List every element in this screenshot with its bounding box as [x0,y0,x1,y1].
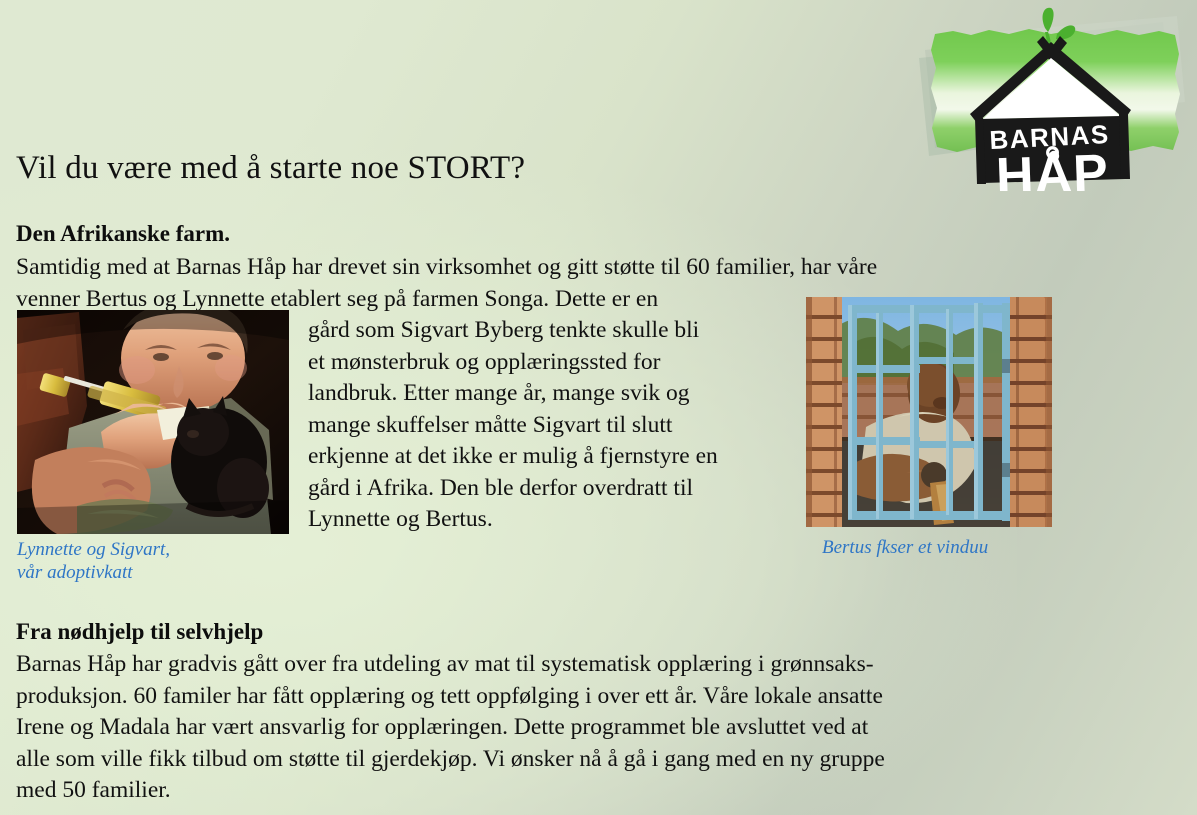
caption-line: Lynnette og Sigvart, [17,538,317,561]
photo-lynnette-and-sigvart [17,310,289,534]
selfhelp-line: Irene og Madala har vært ansvarlig for o… [16,712,1066,744]
farm-line: et mønsterbruk og opplæringssted for [308,347,788,379]
farm-line: erkjenne at det ikke er mulig å fjernsty… [308,441,788,473]
section-heading-selfhelp: Fra nødhjelp til selvhjelp [16,618,263,646]
logo-text-hap: HÅP [995,144,1110,191]
photo-bertus-window [806,297,1052,527]
farm-line: mange skuffelser måtte Sigvart til slutt [308,410,788,442]
selfhelp-line: alle som ville fikk tilbud om støtte til… [16,744,1066,776]
selfhelp-paragraph: Barnas Håp har gradvis gått over fra utd… [16,649,1066,807]
caption-line: Bertus fkser et vinduu [822,536,1082,559]
section-heading-farm: Den Afrikanske farm. [16,220,230,248]
svg-text:HÅP: HÅP [995,144,1110,191]
selfhelp-line: Barnas Håp har gradvis gått over fra utd… [16,649,1066,681]
intro-line: Samtidig med at Barnas Håp har drevet si… [16,252,1046,284]
farm-line: gård i Afrika. Den ble derfor overdratt … [308,473,788,505]
farm-line: gård som Sigvart Byberg tenkte skulle bl… [308,315,788,347]
slide-canvas: BARNAS HÅP Vil du være med å starte noe … [0,0,1197,815]
barnas-hap-logo: BARNAS HÅP [917,6,1187,191]
farm-line: Lynnette og Bertus. [308,504,788,536]
farm-line: landbruk. Etter mange år, mange svik og [308,378,788,410]
caption-line: vår adoptivkatt [17,561,317,584]
page-title: Vil du være med å starte noe STORT? [16,148,525,188]
selfhelp-line: med 50 familier. [16,775,1066,807]
caption-right-photo: Bertus fkser et vinduu [822,536,1082,559]
farm-paragraph: gård som Sigvart Byberg tenkte skulle bl… [308,315,788,536]
caption-left-photo: Lynnette og Sigvart, vår adoptivkatt [17,538,317,584]
selfhelp-line: produksjon. 60 familer har fått opplærin… [16,681,1066,713]
